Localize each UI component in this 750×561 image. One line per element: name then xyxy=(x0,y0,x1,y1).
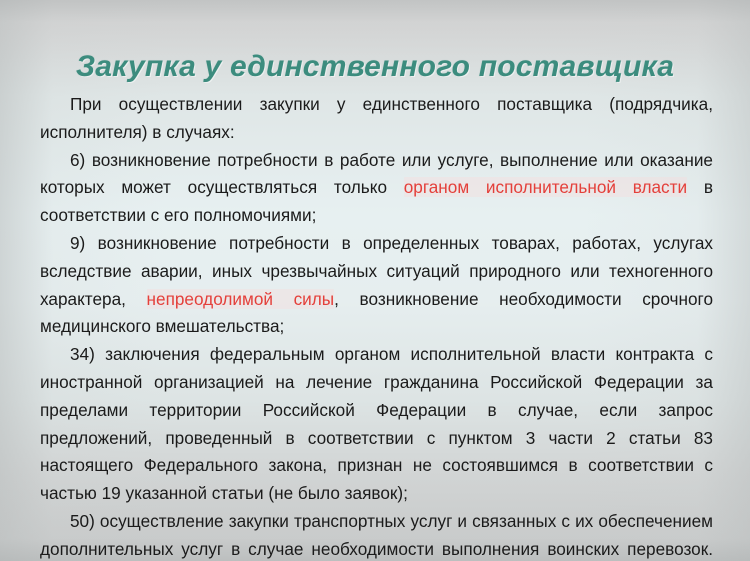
slide-title: Закупка у единственного поставщика xyxy=(0,50,750,84)
slide-body-text: При осуществлении закупки у единственног… xyxy=(40,91,713,561)
paragraph-item-50: 50) осуществление закупки транспортных у… xyxy=(40,508,713,561)
paragraph-item-34: 34) заключения федеральным органом испол… xyxy=(40,341,713,508)
paragraph-item-6: 6) возникновение потребности в работе ил… xyxy=(40,147,713,230)
paragraph-intro: При осуществлении закупки у единственног… xyxy=(40,91,713,147)
highlighted-term: непреодолимой силы xyxy=(147,289,335,309)
presentation-slide: Закупка у единственного поставщика При о… xyxy=(0,0,750,561)
highlighted-term: органом исполнительной власти xyxy=(404,177,687,197)
paragraph-item-9: 9) возникновение потребности в определен… xyxy=(40,230,713,341)
